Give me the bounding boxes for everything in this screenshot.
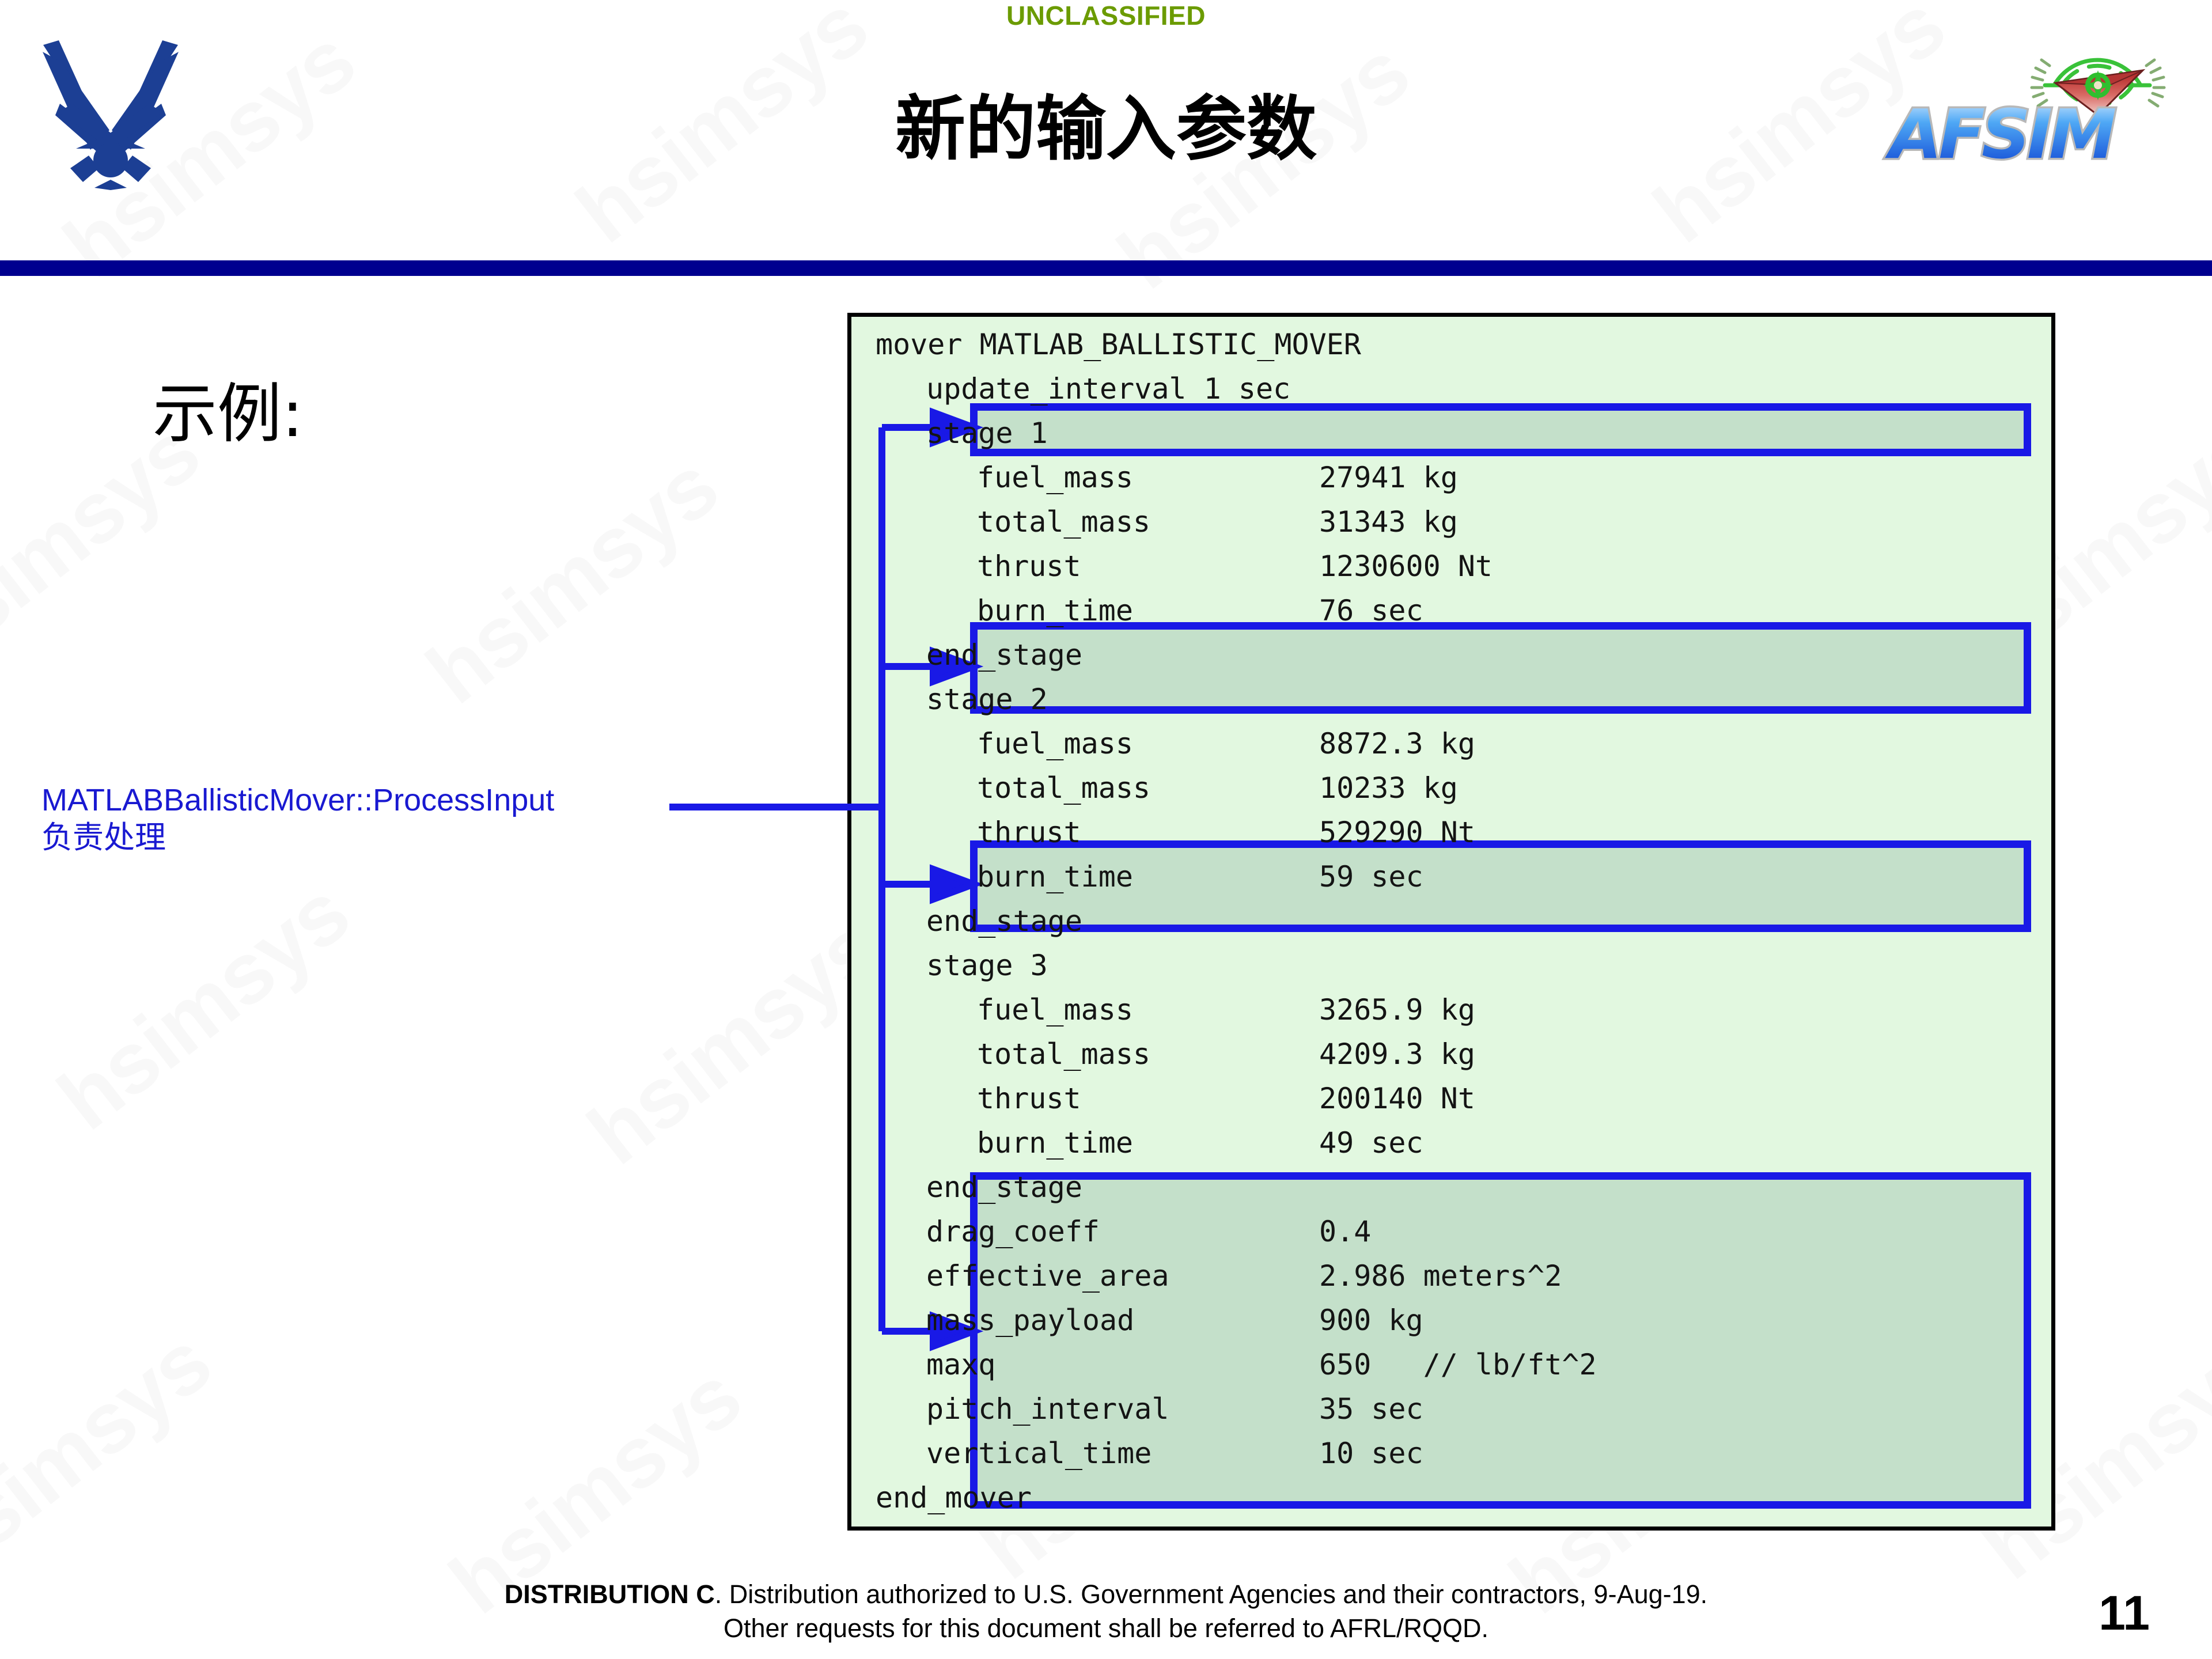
code-line: thrust529290 Nt <box>876 810 1361 855</box>
code-key: end_stage <box>926 633 1082 677</box>
code-line: mass_payload900 kg <box>876 1298 1361 1343</box>
code-key: mover MATLAB_BALLISTIC_MOVER <box>876 323 1361 367</box>
code-value: 529290 Nt <box>1319 810 1475 855</box>
code-line: vertical_time10 sec <box>876 1431 1361 1476</box>
code-key: update_interval 1 sec <box>926 367 1290 411</box>
code-key: mass_payload <box>926 1298 1134 1343</box>
code-line: stage 3 <box>876 944 1361 988</box>
code-line: total_mass4209.3 kg <box>876 1032 1361 1077</box>
code-value: 27941 kg <box>1319 456 1458 500</box>
code-key: total_mass <box>977 1032 1150 1077</box>
code-key: end_stage <box>926 899 1082 944</box>
code-key: burn_time <box>977 589 1133 633</box>
code-value: 8872.3 kg <box>1319 722 1475 766</box>
header-divider <box>0 260 2212 276</box>
watermark-text: hsimsys <box>0 1312 229 1599</box>
code-line: total_mass31343 kg <box>876 500 1361 544</box>
code-key: total_mass <box>977 500 1150 544</box>
code-value: 2.986 meters^2 <box>1319 1254 1562 1298</box>
footer: DISTRIBUTION C. Distribution authorized … <box>0 1577 2212 1646</box>
code-key: burn_time <box>977 1121 1133 1165</box>
code-line: update_interval 1 sec <box>876 367 1361 411</box>
code-line: end_stage <box>876 899 1361 944</box>
code-line: fuel_mass3265.9 kg <box>876 988 1361 1032</box>
code-key: thrust <box>977 544 1081 589</box>
code-key: total_mass <box>977 766 1150 810</box>
code-value: 0.4 <box>1319 1210 1371 1254</box>
code-line: maxq650 // lb/ft^2 <box>876 1343 1361 1387</box>
watermark-text: hsimsys <box>40 863 368 1149</box>
code-key: fuel_mass <box>977 988 1133 1032</box>
code-key: thrust <box>977 810 1081 855</box>
usaf-wings-logo <box>13 17 209 190</box>
code-value: 200140 Nt <box>1319 1077 1475 1121</box>
code-value: 35 sec <box>1319 1387 1423 1431</box>
code-value: 900 kg <box>1319 1298 1423 1343</box>
classification-banner: UNCLASSIFIED <box>0 0 2212 31</box>
code-value: 10 sec <box>1319 1431 1423 1476</box>
code-line: stage 1 <box>876 411 1361 456</box>
code-line: pitch_interval35 sec <box>876 1387 1361 1431</box>
footer-distribution-text: . Distribution authorized to U.S. Govern… <box>715 1580 1707 1609</box>
code-line: mover MATLAB_BALLISTIC_MOVER <box>876 323 1361 367</box>
code-key: fuel_mass <box>977 456 1133 500</box>
code-value: 59 sec <box>1319 855 1423 899</box>
afsim-logo: AFSIM <box>1872 28 2183 166</box>
code-key: end_stage <box>926 1165 1082 1210</box>
code-key: pitch_interval <box>926 1387 1169 1431</box>
code-value: 76 sec <box>1319 589 1423 633</box>
code-line: burn_time49 sec <box>876 1121 1361 1165</box>
code-line: end_mover <box>876 1476 1361 1520</box>
callout-leader-line <box>669 804 882 810</box>
code-line: total_mass10233 kg <box>876 766 1361 810</box>
processinput-callout-line1: MATLABBallisticMover::ProcessInput <box>41 783 554 817</box>
code-value: 650 // lb/ft^2 <box>1319 1343 1597 1387</box>
code-value: 31343 kg <box>1319 500 1458 544</box>
code-line: end_stage <box>876 633 1361 677</box>
code-line: effective_area2.986 meters^2 <box>876 1254 1361 1298</box>
code-key: drag_coeff <box>926 1210 1100 1254</box>
code-value: 1230600 Nt <box>1319 544 1493 589</box>
svg-text:AFSIM: AFSIM <box>1885 94 2115 166</box>
code-line: burn_time59 sec <box>876 855 1361 899</box>
code-value: 49 sec <box>1319 1121 1423 1165</box>
code-line: drag_coeff0.4 <box>876 1210 1361 1254</box>
code-key: burn_time <box>977 855 1133 899</box>
code-value: 4209.3 kg <box>1319 1032 1475 1077</box>
code-key: fuel_mass <box>977 722 1133 766</box>
code-line: thrust1230600 Nt <box>876 544 1361 589</box>
code-key: stage 1 <box>926 411 1048 456</box>
code-key: maxq <box>926 1343 995 1387</box>
code-line: burn_time76 sec <box>876 589 1361 633</box>
slide-number: 11 <box>2099 1585 2150 1641</box>
code-line: stage 2 <box>876 677 1361 722</box>
footer-distribution-label: DISTRIBUTION C <box>505 1580 715 1609</box>
code-key: vertical_time <box>926 1431 1152 1476</box>
code-key: stage 3 <box>926 944 1048 988</box>
processinput-callout-line2: 负责处理 <box>41 819 554 856</box>
example-label: 示例: <box>153 362 304 455</box>
watermark-text: hsimsys <box>408 437 736 723</box>
code-line: end_stage <box>876 1165 1361 1210</box>
footer-line-2: Other requests for this document shall b… <box>0 1611 2212 1645</box>
code-key: thrust <box>977 1077 1081 1121</box>
code-line: fuel_mass8872.3 kg <box>876 722 1361 766</box>
code-key: end_mover <box>876 1476 1032 1520</box>
code-value: 3265.9 kg <box>1319 988 1475 1032</box>
code-line: fuel_mass27941 kg <box>876 456 1361 500</box>
code-value: 10233 kg <box>1319 766 1458 810</box>
code-line: thrust200140 Nt <box>876 1077 1361 1121</box>
code-listing: mover MATLAB_BALLISTIC_MOVERupdate_inter… <box>876 323 1361 1520</box>
processinput-callout: MATLABBallisticMover::ProcessInput 负责处理 <box>41 782 554 855</box>
code-key: effective_area <box>926 1254 1169 1298</box>
code-key: stage 2 <box>926 677 1048 722</box>
footer-line-1: DISTRIBUTION C. Distribution authorized … <box>0 1577 2212 1611</box>
